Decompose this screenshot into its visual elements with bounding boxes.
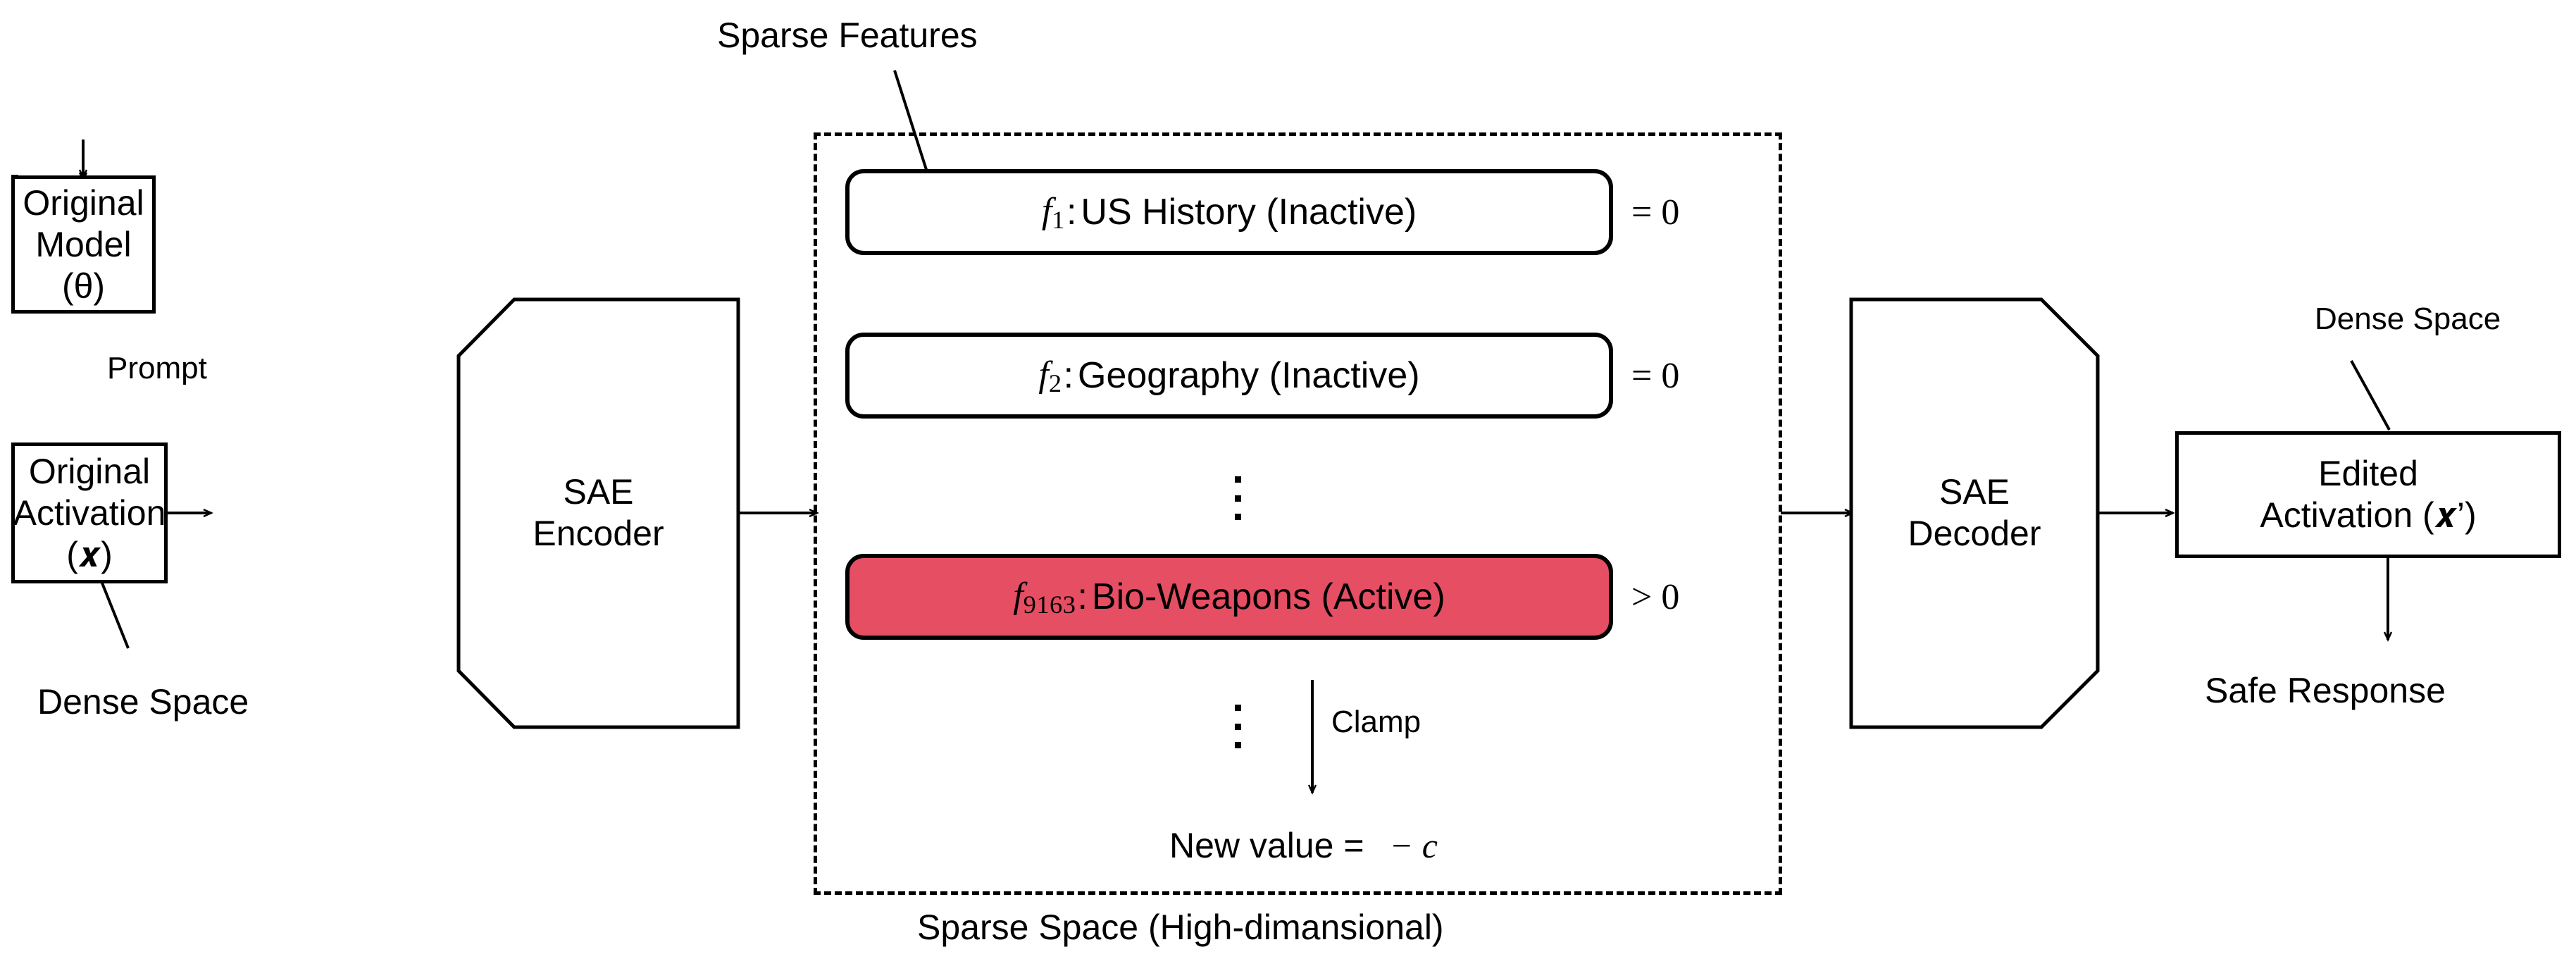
sparse-space-caption: Sparse Space (High-dimansional) [917, 908, 1444, 948]
feature-row-0[interactable]: f1 : US History (Inactive) = 0 [845, 169, 1679, 255]
feature-pill-1[interactable]: f2 : Geography (Inactive) [845, 333, 1613, 419]
feature-row-2[interactable]: f9163 : Bio-Weapons (Active) > 0 [845, 554, 1679, 640]
dense-space-right-label: Dense Space [2315, 302, 2501, 338]
feature-pill-2[interactable]: f9163 : Bio-Weapons (Active) [845, 554, 1613, 640]
dense-space-left-label: Dense Space [37, 682, 249, 723]
ellipsis-dot [1235, 705, 1241, 711]
original-model-line2: Model (θ) [15, 224, 152, 307]
edited-activation-line2: Activation (𝒙’) [2260, 495, 2476, 536]
sparse-features-title: Sparse Features [717, 16, 978, 56]
ellipsis-lower [1234, 705, 1241, 748]
leader-dense-space-right [2351, 361, 2389, 430]
feature-value-2: > 0 [1631, 576, 1679, 618]
feature-name-1: Geography (Inactive) [1078, 354, 1420, 397]
diagram-canvas: Original Model (θ) Original Activation (… [0, 0, 2576, 978]
sae-decoder-label[interactable]: SAE Decoder [1851, 442, 2098, 583]
feature-name-2: Bio-Weapons (Active) [1092, 576, 1445, 618]
ellipsis-dot [1235, 476, 1241, 483]
original-activation-line2: Activation (𝒙) [13, 493, 166, 576]
sae-decoder-line1: SAE [1939, 471, 2010, 513]
feature-symbol-0: f1 [1042, 190, 1065, 235]
original-model-line1: Original [23, 182, 144, 224]
safe-response-label: Safe Response [2205, 671, 2446, 712]
prompt-label: Prompt [107, 351, 207, 387]
feature-colon-0: : [1066, 191, 1076, 233]
feature-index-2: 9163 [1023, 590, 1076, 619]
feature-pill-0[interactable]: f1 : US History (Inactive) [845, 169, 1613, 255]
new-value-math: − c [1389, 826, 1437, 865]
original-model-box-main[interactable]: Original Model (θ) [11, 175, 156, 314]
ellipsis-upper [1234, 476, 1241, 520]
sae-encoder-label[interactable]: SAE Encoder [459, 442, 738, 583]
sae-encoder-line1: SAE [563, 471, 633, 513]
sae-encoder-line2: Encoder [533, 513, 664, 555]
edited-activation-box[interactable]: Edited Activation (𝒙’) [2175, 431, 2561, 558]
new-value-text: New value = [1169, 826, 1364, 865]
feature-index-0: 1 [1052, 206, 1065, 234]
feature-row-1[interactable]: f2 : Geography (Inactive) = 0 [845, 333, 1679, 419]
feature-name-0: US History (Inactive) [1081, 191, 1417, 233]
new-value-label: New value = − c [1169, 826, 1438, 867]
ellipsis-dot [1235, 495, 1241, 502]
feature-index-1: 2 [1049, 369, 1062, 397]
feature-symbol-1: f2 [1038, 354, 1062, 398]
sae-decoder-line2: Decoder [1908, 513, 2041, 555]
feature-colon-2: : [1077, 576, 1087, 618]
feature-colon-1: : [1064, 354, 1074, 397]
ellipsis-dot [1235, 742, 1241, 748]
ellipsis-dot [1235, 724, 1241, 730]
original-activation-box[interactable]: Original Activation (𝒙) [11, 442, 168, 583]
ellipsis-dot [1235, 514, 1241, 520]
clamp-label: Clamp [1331, 705, 1421, 741]
feature-value-1: = 0 [1631, 355, 1679, 397]
edited-activation-line1: Edited [2318, 453, 2418, 495]
original-activation-line1: Original [29, 451, 150, 493]
feature-value-0: = 0 [1631, 192, 1679, 233]
feature-symbol-2: f9163 [1013, 575, 1076, 619]
